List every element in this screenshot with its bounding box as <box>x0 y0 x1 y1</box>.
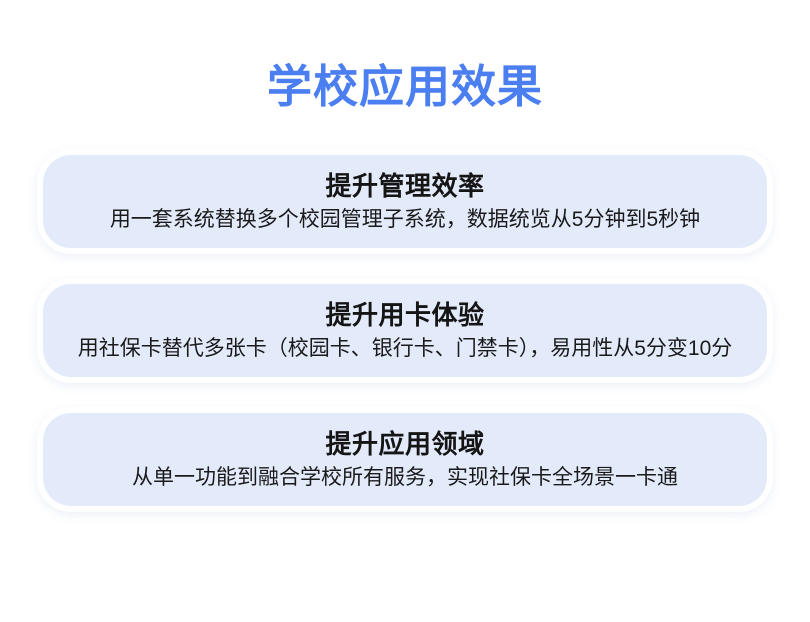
effect-card: 提升用卡体验 用社保卡替代多张卡（校园卡、银行卡、门禁卡），易用性从5分变10分 <box>37 278 773 383</box>
effect-card-body: 从单一功能到融合学校所有服务，实现社保卡全场景一卡通 <box>132 464 678 492</box>
effect-card-body: 用社保卡替代多张卡（校园卡、银行卡、门禁卡），易用性从5分变10分 <box>78 335 733 363</box>
effect-card-heading: 提升应用领域 <box>325 428 484 460</box>
effect-card: 提升管理效率 用一套系统替换多个校园管理子系统，数据统览从5分钟到5秒钟 <box>37 149 773 254</box>
effect-card-inner: 提升用卡体验 用社保卡替代多张卡（校园卡、银行卡、门禁卡），易用性从5分变10分 <box>43 284 767 377</box>
effect-card-inner: 提升应用领域 从单一功能到融合学校所有服务，实现社保卡全场景一卡通 <box>43 413 767 506</box>
school-application-effect-page: 学校应用效果 提升管理效率 用一套系统替换多个校园管理子系统，数据统览从5分钟到… <box>0 0 810 622</box>
effect-card: 提升应用领域 从单一功能到融合学校所有服务，实现社保卡全场景一卡通 <box>37 407 773 512</box>
effect-card-heading: 提升管理效率 <box>325 170 484 202</box>
effect-card-list: 提升管理效率 用一套系统替换多个校园管理子系统，数据统览从5分钟到5秒钟 提升用… <box>37 149 773 536</box>
page-title: 学校应用效果 <box>0 60 810 114</box>
effect-card-inner: 提升管理效率 用一套系统替换多个校园管理子系统，数据统览从5分钟到5秒钟 <box>43 155 767 248</box>
effect-card-heading: 提升用卡体验 <box>325 299 484 331</box>
effect-card-body: 用一套系统替换多个校园管理子系统，数据统览从5分钟到5秒钟 <box>110 206 700 234</box>
